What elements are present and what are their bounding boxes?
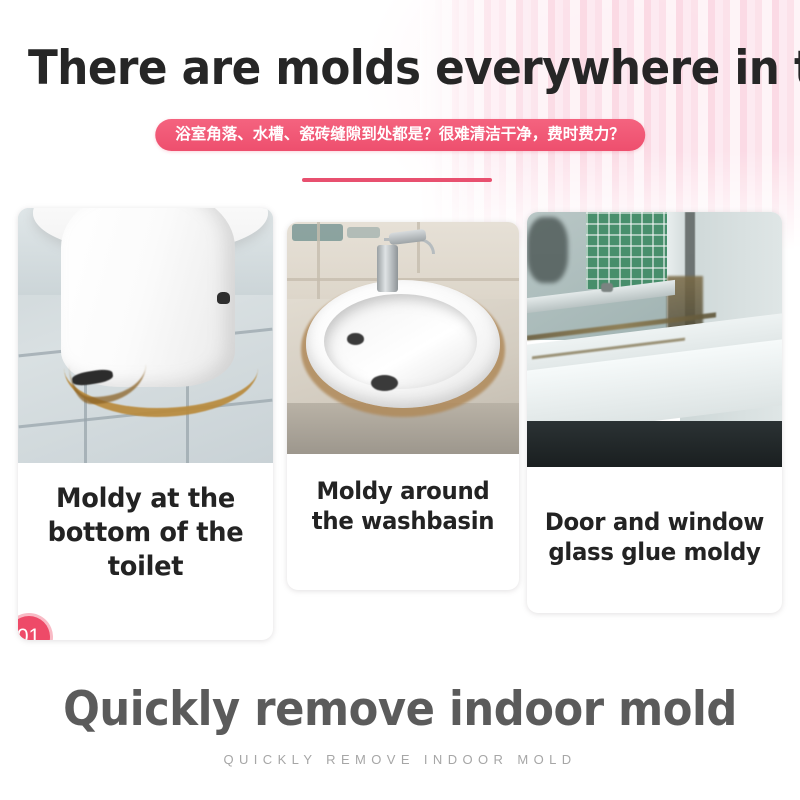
- subtitle-pill: 浴室角落、水槽、瓷砖缝隙到处都是？很难清洁干净，费时费力？: [155, 119, 645, 151]
- page-title: There are molds everywhere in the gap??: [28, 43, 772, 95]
- card-photo-washbasin: [287, 222, 519, 454]
- problem-card-3[interactable]: Door and window glass glue moldy 03: [527, 212, 782, 613]
- bottom-headline: Quickly remove indoor mold: [32, 683, 768, 737]
- problem-card-1[interactable]: Moldy at the bottom of the toilet 01: [18, 208, 273, 640]
- bottom-subheadline: QUICKLY REMOVE INDOOR MOLD: [0, 752, 800, 767]
- card-photo-toilet: [18, 208, 273, 463]
- card-photo-window: [527, 212, 782, 467]
- problem-card-2[interactable]: Moldy around the washbasin 02: [287, 222, 519, 590]
- divider-rule: [302, 178, 492, 182]
- promo-poster: There are molds everywhere in the gap?? …: [0, 0, 800, 800]
- card-caption-1: Moldy at the bottom of the toilet: [24, 482, 266, 584]
- card-badge-1: 01: [18, 613, 53, 640]
- card-caption-3: Door and window glass glue moldy: [533, 507, 775, 567]
- card-caption-2: Moldy around the washbasin: [293, 476, 513, 536]
